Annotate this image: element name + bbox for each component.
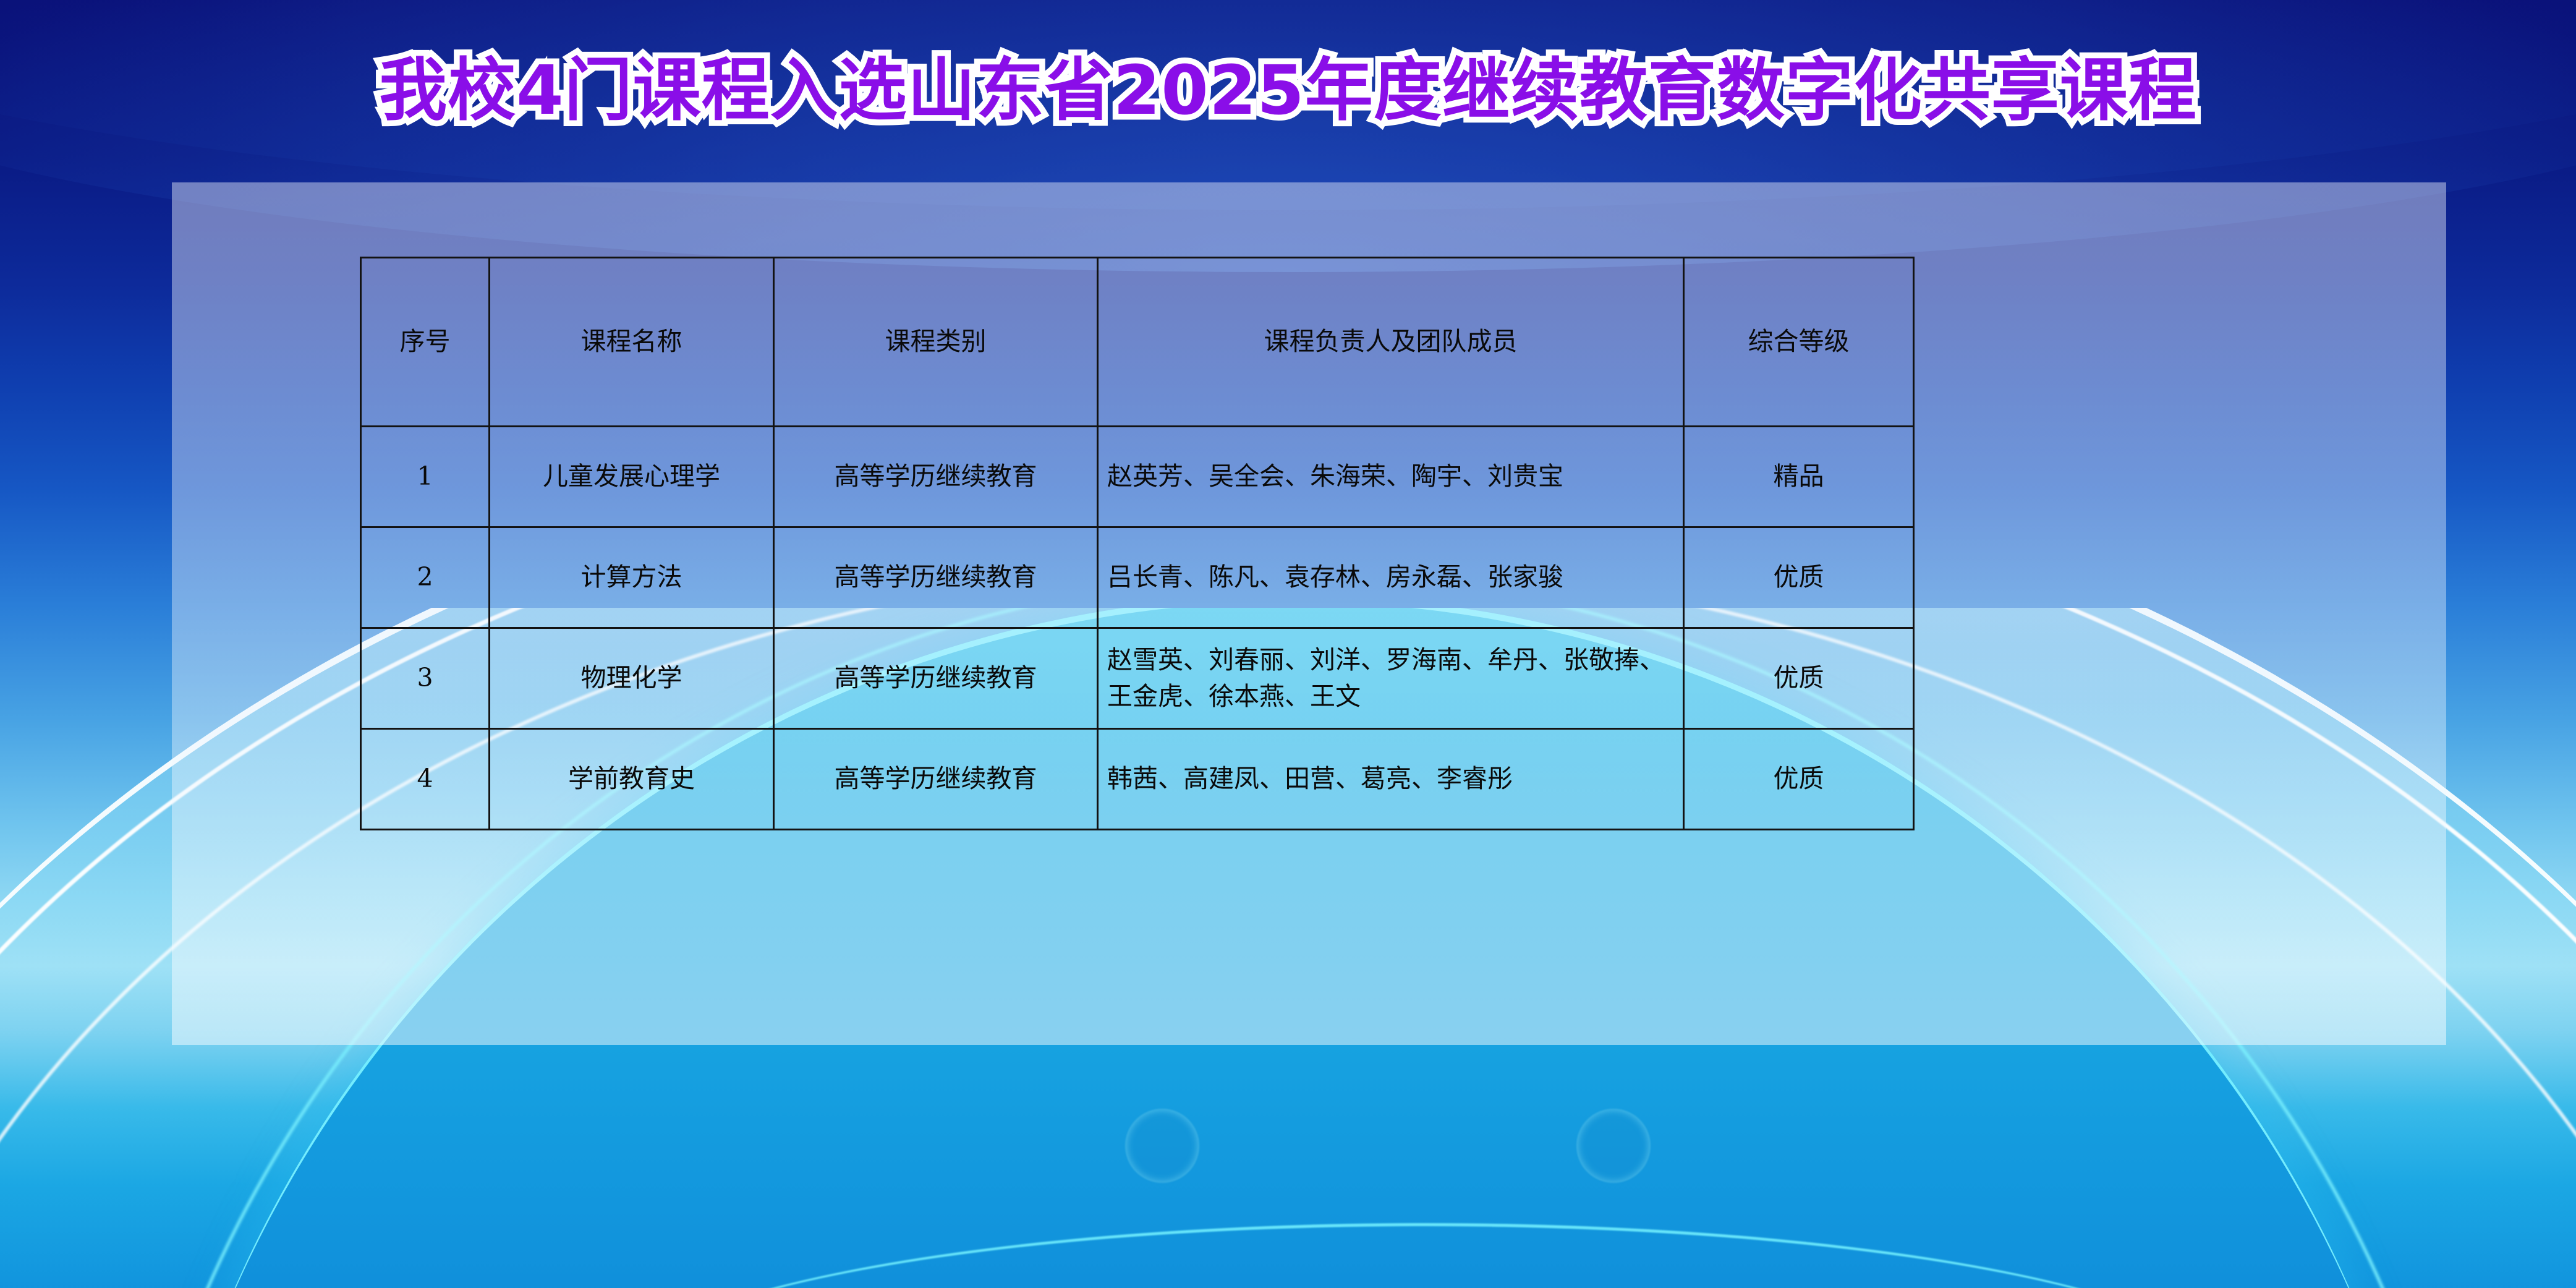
poster-canvas: 我校4门课程入选山东省2025年度继续教育数字化共享课程 序号 课程名称 课程类… [0, 0, 2576, 1288]
cell-name: 物理化学 [490, 628, 774, 729]
cell-team: 赵英芳、吴全会、朱海荣、陶宇、刘贵宝 [1098, 427, 1684, 527]
globe-blob-right [1576, 1109, 1651, 1183]
column-header-name: 课程名称 [490, 258, 774, 427]
cell-category: 高等学历继续教育 [774, 527, 1098, 628]
cell-category: 高等学历继续教育 [774, 427, 1098, 527]
cell-name: 儿童发展心理学 [490, 427, 774, 527]
table-body: 1 儿童发展心理学 高等学历继续教育 赵英芳、吴全会、朱海荣、陶宇、刘贵宝 精品… [361, 427, 1914, 830]
cell-category: 高等学历继续教育 [774, 628, 1098, 729]
table-header-row: 序号 课程名称 课程类别 课程负责人及团队成员 综合等级 [361, 258, 1914, 427]
table-row: 3 物理化学 高等学历继续教育 赵雪英、刘春丽、刘洋、罗海南、牟丹、张敬捧、王金… [361, 628, 1914, 729]
course-table-container: 序号 课程名称 课程类别 课程负责人及团队成员 综合等级 1 儿童发展心理学 高… [360, 257, 1915, 830]
cell-grade: 优质 [1684, 729, 1914, 830]
globe-blob-left [1125, 1109, 1199, 1183]
table-row: 4 学前教育史 高等学历继续教育 韩茜、高建凤、田营、葛亮、李睿彤 优质 [361, 729, 1914, 830]
cell-grade: 优质 [1684, 527, 1914, 628]
cell-team: 韩茜、高建凤、田营、葛亮、李睿彤 [1098, 729, 1684, 830]
table-header: 序号 课程名称 课程类别 课程负责人及团队成员 综合等级 [361, 258, 1914, 427]
column-header-grade: 综合等级 [1684, 258, 1914, 427]
cell-no: 2 [361, 527, 490, 628]
globe-wave-line [606, 1223, 2244, 1288]
table-row: 2 计算方法 高等学历继续教育 吕长青、陈凡、袁存林、房永磊、张家骏 优质 [361, 527, 1914, 628]
cell-grade: 精品 [1684, 427, 1914, 527]
column-header-category: 课程类别 [774, 258, 1098, 427]
cell-no: 3 [361, 628, 490, 729]
cell-grade: 优质 [1684, 628, 1914, 729]
page-title: 我校4门课程入选山东省2025年度继续教育数字化共享课程 [0, 51, 2576, 131]
cell-no: 1 [361, 427, 490, 527]
cell-category: 高等学历继续教育 [774, 729, 1098, 830]
course-table: 序号 课程名称 课程类别 课程负责人及团队成员 综合等级 1 儿童发展心理学 高… [360, 257, 1915, 830]
cell-team: 赵雪英、刘春丽、刘洋、罗海南、牟丹、张敬捧、王金虎、徐本燕、王文 [1098, 628, 1684, 729]
column-header-no: 序号 [361, 258, 490, 427]
cell-team: 吕长青、陈凡、袁存林、房永磊、张家骏 [1098, 527, 1684, 628]
column-header-team: 课程负责人及团队成员 [1098, 258, 1684, 427]
cell-name: 学前教育史 [490, 729, 774, 830]
cell-no: 4 [361, 729, 490, 830]
cell-name: 计算方法 [490, 527, 774, 628]
table-row: 1 儿童发展心理学 高等学历继续教育 赵英芳、吴全会、朱海荣、陶宇、刘贵宝 精品 [361, 427, 1914, 527]
